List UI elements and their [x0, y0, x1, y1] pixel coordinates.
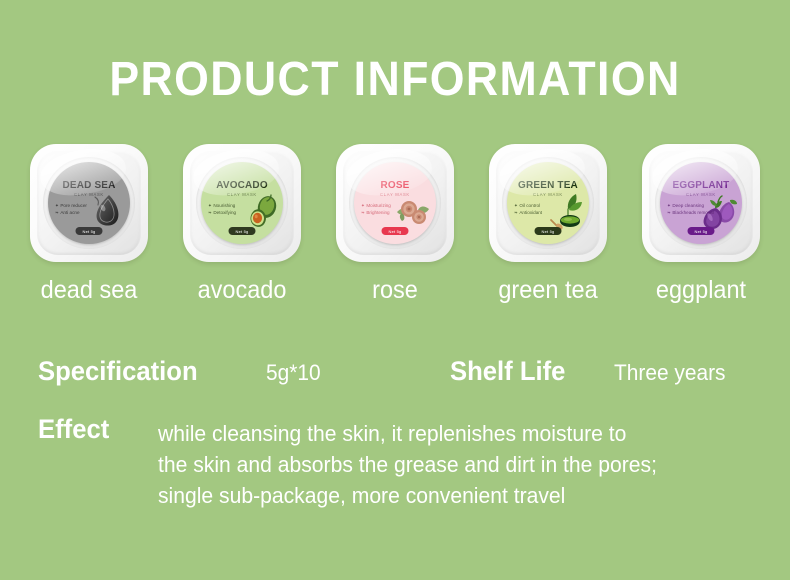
label-feature-list: ✦Oil control❧Antioxidant	[514, 202, 556, 216]
feature-text: Blackheads removal	[672, 210, 713, 215]
product-tub-row: DEAD SEACLAY MASK✦Pore reducer❧Anti acne…	[30, 144, 760, 264]
specification-label: Specification	[38, 356, 198, 387]
product-tub: AVOCADOCLAY MASK✦Nourishing❧DetoxifyingN…	[183, 144, 301, 262]
product-label-sticker: EGGPLANTCLAY MASK✦Deep cleansing❧Blackhe…	[660, 162, 742, 244]
feature-bullet-icon: ❧	[514, 209, 518, 216]
label-feature-item: ❧Anti acne	[55, 209, 97, 216]
net-weight-badge: Net 5g	[382, 227, 409, 235]
label-subtitle: CLAY MASK	[201, 192, 283, 197]
feature-text: Detoxifying	[213, 210, 236, 215]
net-weight-badge: Net 5g	[76, 227, 103, 235]
net-weight-badge: Net 5g	[229, 227, 256, 235]
product-caption: rose	[340, 276, 451, 305]
feature-bullet-icon: ✦	[208, 202, 212, 209]
product-caption: eggplant	[646, 276, 757, 305]
label-feature-list: ✦Moisturizing❧Brightening	[361, 202, 403, 216]
feature-text: Brightening	[366, 210, 389, 215]
effect-description: while cleansing the skin, it replenishes…	[158, 418, 734, 511]
feature-bullet-icon: ✦	[361, 202, 365, 209]
label-title: ROSE	[356, 179, 434, 191]
product-label-sticker: GREEN TEACLAY MASK✦Oil control❧Antioxida…	[507, 162, 589, 244]
feature-text: Anti acne	[60, 210, 79, 215]
label-feature-item: ❧Blackheads removal	[667, 209, 709, 216]
label-subtitle: CLAY MASK	[354, 192, 436, 197]
label-feature-item: ❧Brightening	[361, 209, 403, 216]
product-eggplant[interactable]: EGGPLANTCLAY MASK✦Deep cleansing❧Blackhe…	[642, 144, 760, 262]
label-feature-item: ❧Detoxifying	[208, 209, 250, 216]
feature-text: Pore reducer	[60, 203, 87, 208]
product-caption-row: dead seaavocadorosegreen teaeggplant	[30, 276, 760, 305]
label-feature-item: ✦Nourishing	[208, 202, 250, 209]
feature-text: Antioxidant	[519, 210, 542, 215]
label-title: AVOCADO	[203, 179, 281, 191]
effect-line: single sub-package, more convenient trav…	[158, 480, 734, 511]
label-title: DEAD SEA	[50, 179, 128, 191]
net-weight-badge: Net 5g	[535, 227, 562, 235]
label-subtitle: CLAY MASK	[507, 192, 589, 197]
feature-bullet-icon: ❧	[55, 209, 59, 216]
product-tub: ROSECLAY MASK✦Moisturizing❧BrighteningNe…	[336, 144, 454, 262]
label-feature-item: ✦Moisturizing	[361, 202, 403, 209]
product-tub: DEAD SEACLAY MASK✦Pore reducer❧Anti acne…	[30, 144, 148, 262]
feature-bullet-icon: ✦	[514, 202, 518, 209]
product-dead-sea[interactable]: DEAD SEACLAY MASK✦Pore reducer❧Anti acne…	[30, 144, 148, 262]
label-title: EGGPLANT	[662, 179, 740, 191]
page-title: PRODUCT INFORMATION	[28, 52, 763, 107]
net-weight-badge: Net 5g	[688, 227, 715, 235]
feature-bullet-icon: ❧	[667, 209, 671, 216]
label-subtitle: CLAY MASK	[48, 192, 130, 197]
product-caption: avocado	[187, 276, 298, 305]
shelf-life-label: Shelf Life	[450, 356, 565, 387]
product-label-sticker: ROSECLAY MASK✦Moisturizing❧BrighteningNe…	[354, 162, 436, 244]
label-subtitle: CLAY MASK	[660, 192, 742, 197]
product-green-tea[interactable]: GREEN TEACLAY MASK✦Oil control❧Antioxida…	[489, 144, 607, 262]
feature-bullet-icon: ✦	[55, 202, 59, 209]
label-feature-list: ✦Deep cleansing❧Blackheads removal	[667, 202, 709, 216]
label-feature-item: ✦Deep cleansing	[667, 202, 709, 209]
effect-line: the skin and absorbs the grease and dirt…	[158, 449, 734, 480]
feature-bullet-icon: ❧	[361, 209, 365, 216]
feature-text: Oil control	[519, 203, 540, 208]
effect-label: Effect	[38, 414, 109, 445]
effect-line: while cleansing the skin, it replenishes…	[158, 418, 734, 449]
specification-row: Specification 5g*10 Shelf Life Three yea…	[38, 354, 752, 392]
product-tub: GREEN TEACLAY MASK✦Oil control❧Antioxida…	[489, 144, 607, 262]
feature-bullet-icon: ❧	[208, 209, 212, 216]
shelf-life-value: Three years	[614, 360, 726, 386]
label-feature-item: ❧Antioxidant	[514, 209, 556, 216]
label-feature-list: ✦Nourishing❧Detoxifying	[208, 202, 250, 216]
product-caption: green tea	[493, 276, 604, 305]
feature-text: Moisturizing	[366, 203, 391, 208]
product-avocado[interactable]: AVOCADOCLAY MASK✦Nourishing❧DetoxifyingN…	[183, 144, 301, 262]
specification-value: 5g*10	[266, 360, 321, 386]
product-information-banner: PRODUCT INFORMATION DEAD SEACLAY MASK✦Po…	[0, 0, 790, 580]
product-caption: dead sea	[34, 276, 145, 305]
feature-text: Deep cleansing	[672, 203, 704, 208]
feature-bullet-icon: ✦	[667, 202, 671, 209]
label-feature-item: ✦Oil control	[514, 202, 556, 209]
label-title: GREEN TEA	[509, 179, 587, 191]
product-tub: EGGPLANTCLAY MASK✦Deep cleansing❧Blackhe…	[642, 144, 760, 262]
label-feature-list: ✦Pore reducer❧Anti acne	[55, 202, 97, 216]
product-label-sticker: DEAD SEACLAY MASK✦Pore reducer❧Anti acne…	[48, 162, 130, 244]
product-rose[interactable]: ROSECLAY MASK✦Moisturizing❧BrighteningNe…	[336, 144, 454, 262]
label-feature-item: ✦Pore reducer	[55, 202, 97, 209]
product-label-sticker: AVOCADOCLAY MASK✦Nourishing❧DetoxifyingN…	[201, 162, 283, 244]
feature-text: Nourishing	[213, 203, 235, 208]
